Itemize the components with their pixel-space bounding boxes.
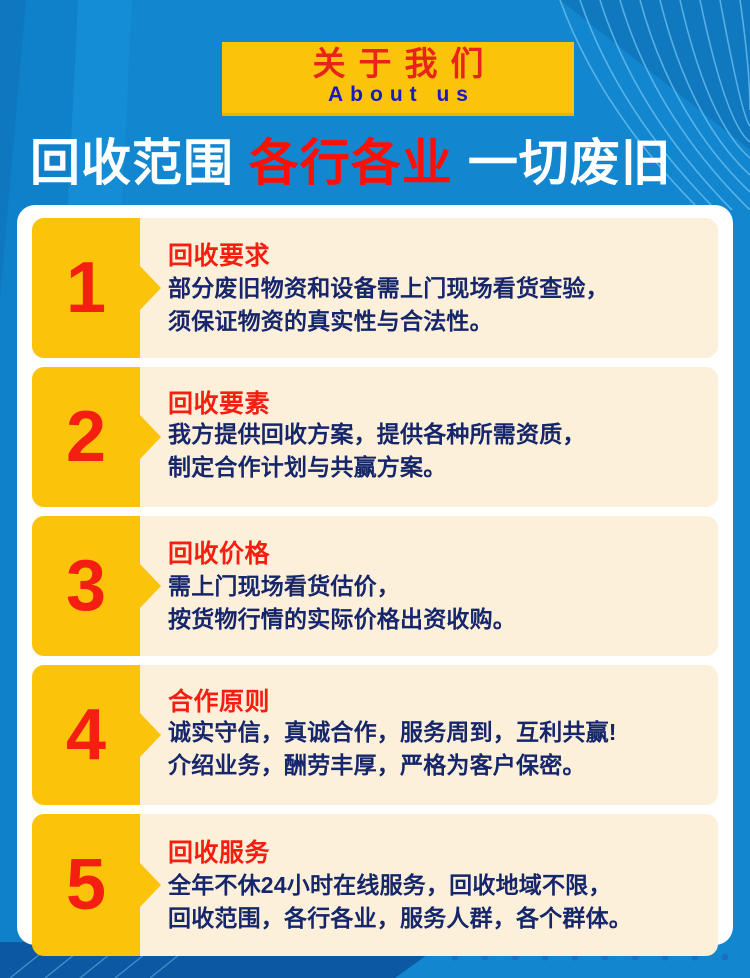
page-title-part-1: 回收范围 [30, 135, 234, 191]
item-title: 合作原则 [168, 688, 704, 716]
content-card: 1 回收要求 部分废旧物资和设备需上门现场看货查验， 须保证物资的真实性与合法性… [17, 205, 733, 945]
about-banner: 关于我们 About us [222, 42, 574, 116]
list-item: 5 回收服务 全年不休24小时在线服务，回收地域不限， 回收范围，各行各业，服务… [32, 814, 718, 956]
item-text-line: 部分废旧物资和设备需上门现场看货查验， [168, 272, 704, 305]
item-text-line: 按货物行情的实际价格出资收购。 [168, 603, 704, 636]
item-number: 2 [66, 401, 106, 473]
item-number: 4 [66, 699, 106, 771]
item-body: 回收服务 全年不休24小时在线服务，回收地域不限， 回收范围，各行各业，服务人群… [140, 814, 718, 956]
item-title: 回收价格 [168, 538, 704, 570]
item-title: 回收要求 [168, 240, 704, 272]
item-text-line: 需上门现场看货估价， [168, 570, 704, 603]
item-text-line: 我方提供回收方案，提供各种所需资质， [168, 418, 704, 451]
about-title-cn: 关于我们 [300, 44, 497, 84]
item-text-line: 须保证物资的真实性与合法性。 [168, 305, 704, 338]
item-body: 回收要素 我方提供回收方案，提供各种所需资质， 制定合作计划与共赢方案。 [140, 367, 718, 507]
item-number-badge: 2 [32, 367, 140, 507]
item-number: 5 [66, 849, 106, 921]
item-text-line: 制定合作计划与共赢方案。 [168, 451, 704, 484]
poster-header: 关于我们 About us 回收范围 各行各业 一切废旧 [0, 0, 750, 205]
item-text-line: 诚实守信，真诚合作，服务周到，互利共赢! [168, 716, 704, 749]
item-number-badge: 1 [32, 218, 140, 358]
item-number-badge: 5 [32, 814, 140, 956]
item-number-badge: 3 [32, 516, 140, 656]
item-body: 回收要求 部分废旧物资和设备需上门现场看货查验， 须保证物资的真实性与合法性。 [140, 218, 718, 358]
page-title: 回收范围 各行各业 一切废旧 [30, 133, 730, 195]
list-item: 2 回收要素 我方提供回收方案，提供各种所需资质， 制定合作计划与共赢方案。 [32, 367, 718, 507]
poster-root: 关于我们 About us 回收范围 各行各业 一切废旧 1 回收要求 部分废旧… [0, 0, 750, 978]
item-number: 3 [66, 550, 106, 622]
about-title-en: About us [321, 81, 475, 108]
item-body: 合作原则 诚实守信，真诚合作，服务周到，互利共赢! 介绍业务，酬劳丰厚，严格为客… [140, 665, 718, 805]
page-title-part-3: 一切废旧 [468, 135, 672, 191]
page-title-part-2: 各行各业 [249, 135, 453, 191]
item-number-badge: 4 [32, 665, 140, 805]
item-text-line: 介绍业务，酬劳丰厚，严格为客户保密。 [168, 749, 704, 782]
item-text-line: 全年不休24小时在线服务，回收地域不限， [168, 869, 704, 902]
item-number: 1 [66, 252, 106, 324]
list-item: 1 回收要求 部分废旧物资和设备需上门现场看货查验， 须保证物资的真实性与合法性… [32, 218, 718, 358]
list-item: 4 合作原则 诚实守信，真诚合作，服务周到，互利共赢! 介绍业务，酬劳丰厚，严格… [32, 665, 718, 805]
item-title: 回收服务 [168, 837, 704, 869]
item-title: 回收要素 [168, 390, 704, 418]
item-text-line: 回收范围，各行各业，服务人群，各个群体。 [168, 902, 704, 935]
item-body: 回收价格 需上门现场看货估价， 按货物行情的实际价格出资收购。 [140, 516, 718, 656]
list-item: 3 回收价格 需上门现场看货估价， 按货物行情的实际价格出资收购。 [32, 516, 718, 656]
